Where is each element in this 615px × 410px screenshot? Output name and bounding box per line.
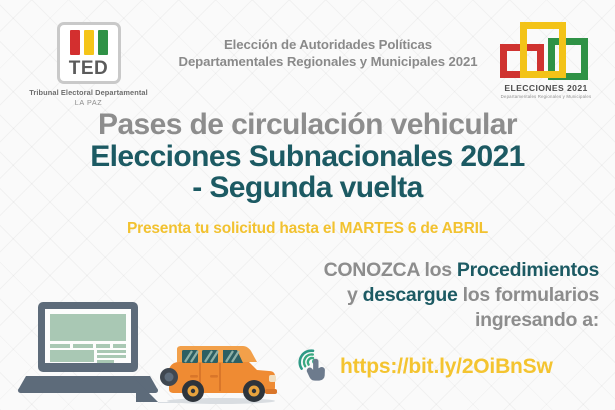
ted-logo-bars	[70, 30, 108, 55]
elecciones-logo-subcaption: Departamentales Regionales y Municipales	[490, 94, 602, 99]
poster-title-teal-line2: - Segunda vuelta	[0, 173, 615, 204]
cta-descargue-emphasis: descargue	[363, 284, 458, 306]
ted-bar-green	[98, 30, 108, 55]
header-title: Elección de Autoridades Políticas Depart…	[163, 36, 493, 71]
ted-logo-mark: TED	[57, 22, 121, 84]
ted-logo-caption-line2: LA PAZ	[17, 98, 160, 107]
cta-line2-suffix: los formularios	[458, 284, 599, 306]
poster-canvas: TED Tribunal Electoral Departamental LA …	[0, 0, 615, 410]
cta-line1-text: CONOZCA los	[324, 259, 457, 281]
cta-line-3: ingresando a:	[227, 308, 599, 333]
cta-line2-prefix: y	[347, 284, 363, 306]
bitly-url-text[interactable]: https://bit.ly/2OiBnSw	[340, 355, 553, 379]
header-line-1: Elección de Autoridades Políticas	[163, 36, 493, 53]
elecciones-2021-logo: ELECCIONES 2021 Departamentales Regional…	[490, 18, 602, 99]
ted-bar-red	[70, 30, 80, 55]
ted-logo: TED Tribunal Electoral Departamental LA …	[17, 22, 160, 107]
link-row[interactable]: https://bit.ly/2OiBnSw	[296, 344, 553, 389]
elecciones-logo-mark	[494, 18, 598, 82]
suv-jeep-icon	[157, 335, 285, 410]
cta-block: CONOZCA los Procedimientos y descargue l…	[227, 258, 599, 333]
poster-deadline-text: Presenta tu solicitud hasta el MARTES 6 …	[0, 220, 615, 238]
ted-bar-yellow	[84, 30, 94, 55]
cta-line-1: CONOZCA los Procedimientos	[227, 258, 599, 283]
cta-line-2: y descargue los formularios	[227, 283, 599, 308]
header-line-2: Departamentales Regionales y Municipales…	[163, 53, 493, 70]
logo-rect-yellow	[520, 22, 566, 78]
ted-logo-word: TED	[69, 59, 109, 78]
ted-logo-caption-line1: Tribunal Electoral Departamental	[17, 88, 160, 97]
poster-title-teal-line1: Elecciones Subnacionales 2021	[0, 142, 615, 173]
poster-title-gray: Pases de circulación vehicular	[0, 108, 615, 142]
click-tap-icon	[296, 344, 334, 389]
cta-procedimientos-emphasis: Procedimientos	[457, 259, 599, 281]
elecciones-logo-caption: ELECCIONES 2021	[490, 83, 602, 93]
poster-title-teal: Elecciones Subnacionales 2021 - Segunda …	[0, 142, 615, 204]
